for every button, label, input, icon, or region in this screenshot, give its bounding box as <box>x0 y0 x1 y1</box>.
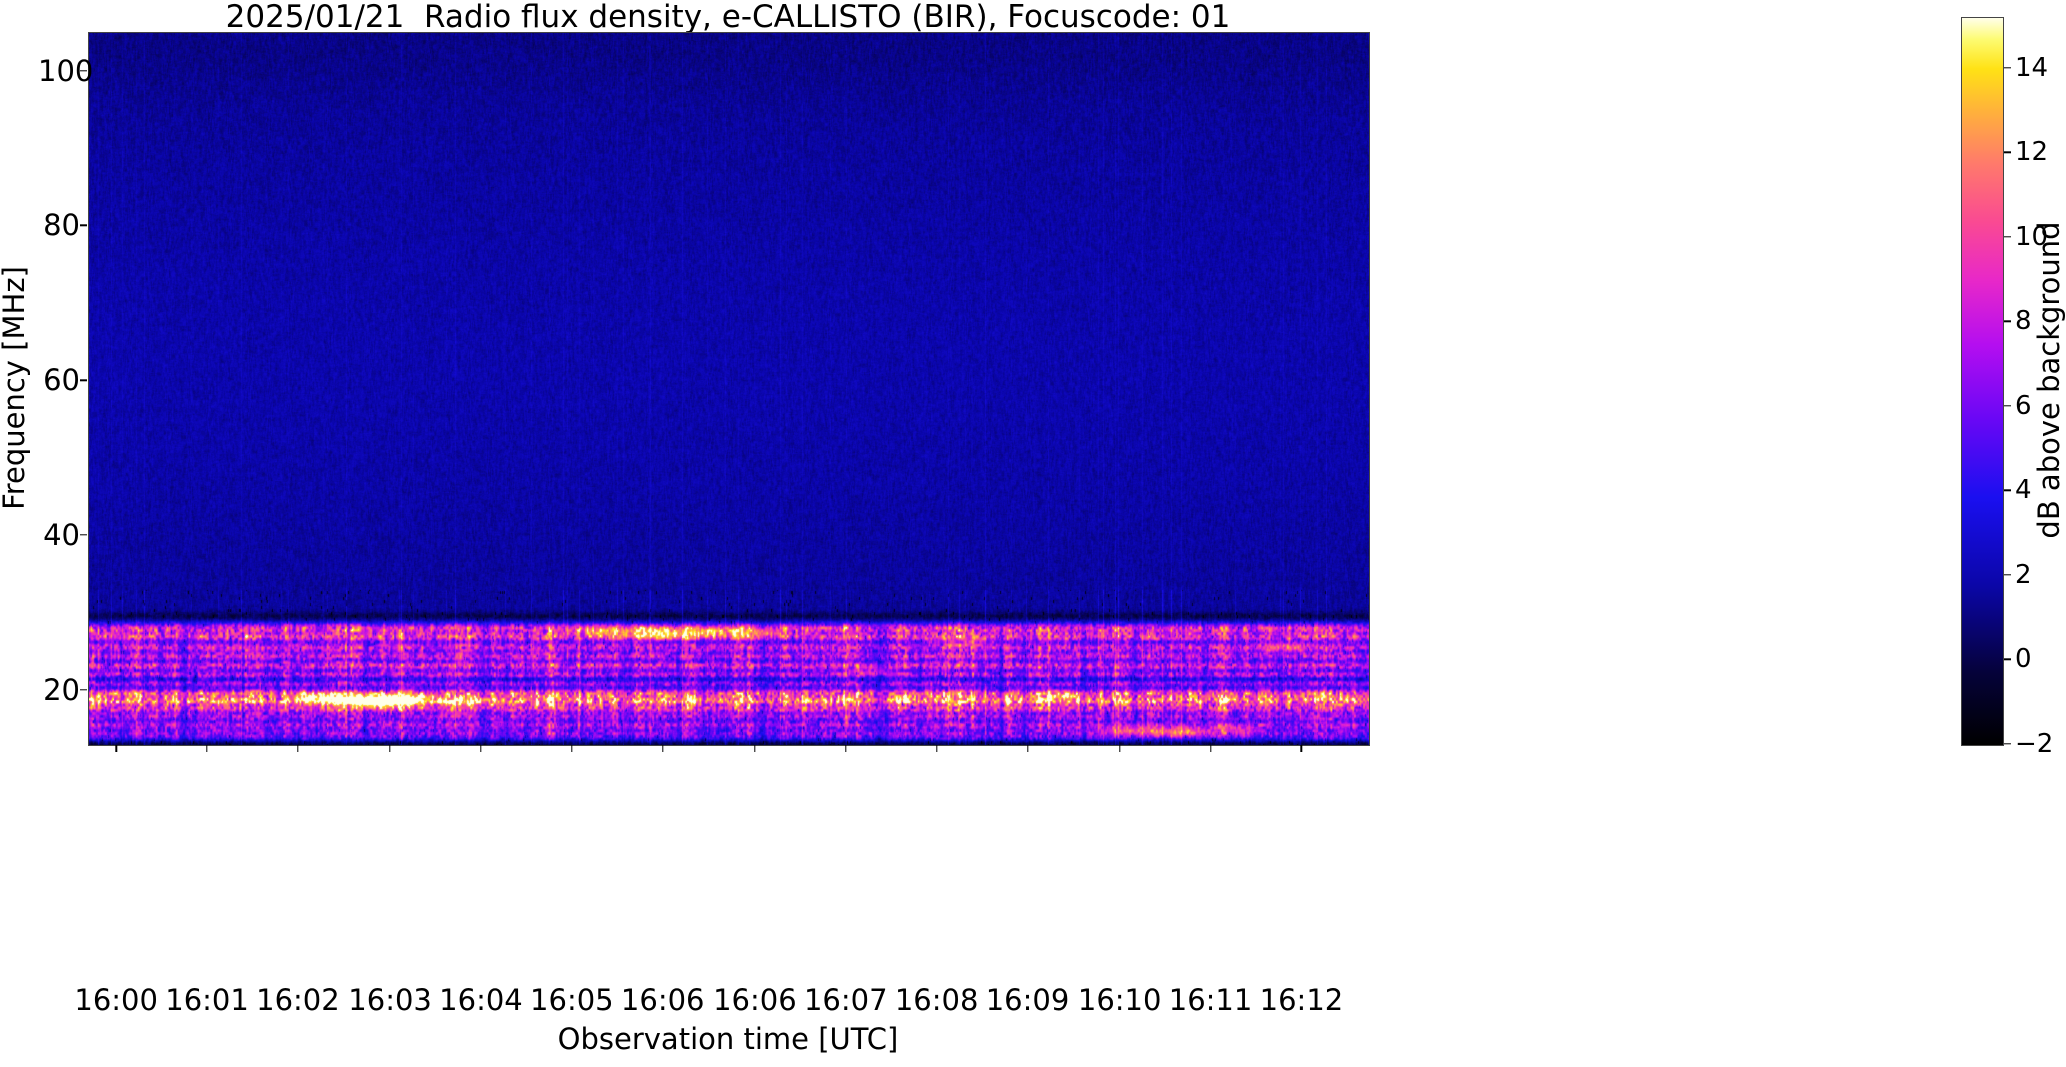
spectrogram-axes[interactable] <box>88 32 1370 746</box>
y-axis-tick-label: 80 <box>38 208 80 242</box>
figure-canvas: 2025/01/21 Radio flux density, e-CALLIST… <box>0 0 2066 1067</box>
spectrogram-image <box>89 33 1369 745</box>
spectrogram-pixels <box>89 33 1369 745</box>
y-axis-tick-mark <box>80 225 87 226</box>
x-axis-tick-mark <box>480 745 481 752</box>
x-axis-tick-label: 16:07 <box>804 983 888 1017</box>
colorbar[interactable] <box>1961 17 2004 746</box>
y-axis-tick-mark <box>80 380 87 381</box>
x-axis-tick-label: 16:00 <box>74 983 158 1017</box>
x-axis-tick-label: 16:11 <box>1169 983 1253 1017</box>
x-axis-tick-label: 16:02 <box>256 983 340 1017</box>
y-axis-tick-label: 60 <box>38 363 80 397</box>
x-axis-tick-mark <box>936 745 937 752</box>
x-axis-tick-mark <box>1210 745 1211 752</box>
x-axis-tick-mark <box>845 745 846 752</box>
colorbar-tick-label: −2 <box>2015 729 2053 759</box>
colorbar-tick-label: 8 <box>2015 306 2032 336</box>
colorbar-tick-mark <box>2004 405 2011 406</box>
colorbar-tick-mark <box>2004 152 2011 153</box>
x-axis-tick-label: 16:09 <box>986 983 1070 1017</box>
colorbar-tick-label: 6 <box>2015 391 2032 421</box>
x-axis-tick-mark <box>297 745 298 752</box>
x-axis-tick-label: 16:12 <box>1260 983 1344 1017</box>
colorbar-tick-mark <box>2004 574 2011 575</box>
colorbar-tick-mark <box>2004 490 2011 491</box>
colorbar-tick-mark <box>2004 236 2011 237</box>
x-axis-tick-mark <box>571 745 572 752</box>
colorbar-tick-mark <box>2004 67 2011 68</box>
colorbar-tick-label: 0 <box>2015 644 2032 674</box>
x-axis-tick-mark <box>1301 745 1302 752</box>
x-axis-label: Observation time [UTC] <box>88 1022 1368 1056</box>
x-axis-tick-label: 16:04 <box>439 983 523 1017</box>
colorbar-tick-label: 2 <box>2015 560 2032 590</box>
colorbar-label: dB above background <box>2032 120 2066 640</box>
x-axis-tick-label: 16:06 <box>713 983 797 1017</box>
x-axis-tick-mark <box>1027 745 1028 752</box>
y-axis-tick-label: 40 <box>38 518 80 552</box>
y-axis-tick-label: 20 <box>38 673 80 707</box>
x-axis-tick-mark <box>1119 745 1120 752</box>
x-axis-tick-label: 16:03 <box>348 983 432 1017</box>
x-axis-tick-mark <box>115 745 116 752</box>
colorbar-tick-mark <box>2004 321 2011 322</box>
x-axis-tick-label: 16:10 <box>1078 983 1162 1017</box>
colorbar-tick-mark <box>2004 743 2011 744</box>
colorbar-tick-label: 4 <box>2015 475 2032 505</box>
y-axis-tick-mark <box>80 534 87 535</box>
colorbar-tick-label: 14 <box>2015 53 2048 83</box>
y-axis-tick-mark <box>80 70 87 71</box>
x-axis-tick-mark <box>662 745 663 752</box>
x-axis-tick-label: 16:08 <box>895 983 979 1017</box>
x-axis-tick-label: 16:05 <box>530 983 614 1017</box>
y-axis-label: Frequency [MHz] <box>0 208 31 568</box>
x-axis-tick-label: 16:01 <box>165 983 249 1017</box>
y-axis-tick-mark <box>80 689 87 690</box>
x-axis-tick-mark <box>206 745 207 752</box>
x-axis-tick-label: 16:06 <box>621 983 705 1017</box>
page-title: 2025/01/21 Radio flux density, e-CALLIST… <box>88 1 1368 34</box>
x-axis-tick-mark <box>754 745 755 752</box>
x-axis-tick-mark <box>389 745 390 752</box>
y-axis-tick-label: 100 <box>38 54 80 88</box>
colorbar-tick-mark <box>2004 659 2011 660</box>
colorbar-gradient <box>1962 18 2003 745</box>
